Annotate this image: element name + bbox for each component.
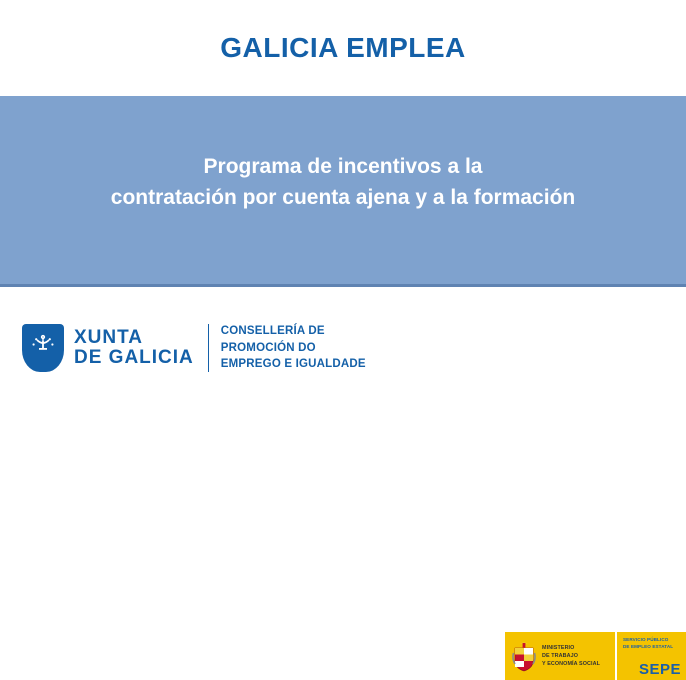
gobierno-de-espana-logo: MINISTERIO DE TRABAJO Y ECONOMÍA SOCIAL … — [505, 632, 686, 680]
logo-divider — [208, 324, 209, 372]
ministerio-line-3: Y ECONOMÍA SOCIAL — [542, 660, 600, 668]
sepe-acronym: SEPE — [623, 662, 681, 677]
sepe-line-1: SERVICIO PÚBLICO — [623, 637, 681, 644]
xunta-word-line-1: XUNTA — [74, 328, 194, 348]
coat-of-arms-svg — [511, 639, 537, 673]
spain-coat-of-arms-icon — [511, 639, 537, 673]
ministerio-line-1: MINISTERIO — [542, 644, 600, 652]
sepe-line-2: DE EMPLEO ESTATAL — [623, 644, 681, 651]
banner-text-block: Programa de incentivos a la contratación… — [0, 152, 686, 231]
conselleria-line-1: CONSELLERÍA DE — [221, 323, 366, 340]
xunta-de-galicia-logo: XUNTA DE GALICIA CONSELLERÍA DE PROMOCIÓ… — [22, 323, 366, 373]
conselleria-line-2: PROMOCIÓN DO — [221, 340, 366, 357]
subtitle-line-2: contratación por cuenta ajena y a la for… — [0, 183, 686, 213]
header-zone: GALICIA EMPLEA — [0, 0, 686, 96]
conselleria-block: CONSELLERÍA DE PROMOCIÓN DO EMPREGO E IG… — [221, 323, 366, 373]
ministerio-text: MINISTERIO DE TRABAJO Y ECONOMÍA SOCIAL — [542, 644, 600, 668]
xunta-chalice-icon — [22, 324, 64, 372]
xunta-word-line-2: DE GALICIA — [74, 348, 194, 368]
page-title: GALICIA EMPLEA — [220, 33, 466, 64]
subtitle-line-1: Programa de incentivos a la — [0, 152, 686, 182]
conselleria-line-3: EMPREGO E IGUALDADE — [221, 356, 366, 373]
sepe-block: SERVICIO PÚBLICO DE EMPLEO ESTATAL SEPE — [615, 632, 686, 680]
chalice-svg — [30, 331, 56, 365]
footer-zone: XUNTA DE GALICIA CONSELLERÍA DE PROMOCIÓ… — [0, 287, 686, 407]
blue-banner: Programa de incentivos a la contratación… — [0, 96, 686, 287]
xunta-wordmark: XUNTA DE GALICIA — [74, 328, 194, 368]
slide-page: GALICIA EMPLEA Programa de incentivos a … — [0, 0, 686, 410]
ministerio-block: MINISTERIO DE TRABAJO Y ECONOMÍA SOCIAL — [505, 632, 615, 680]
sepe-subtitle: SERVICIO PÚBLICO DE EMPLEO ESTATAL — [623, 637, 681, 650]
ministerio-line-2: DE TRABAJO — [542, 652, 600, 660]
